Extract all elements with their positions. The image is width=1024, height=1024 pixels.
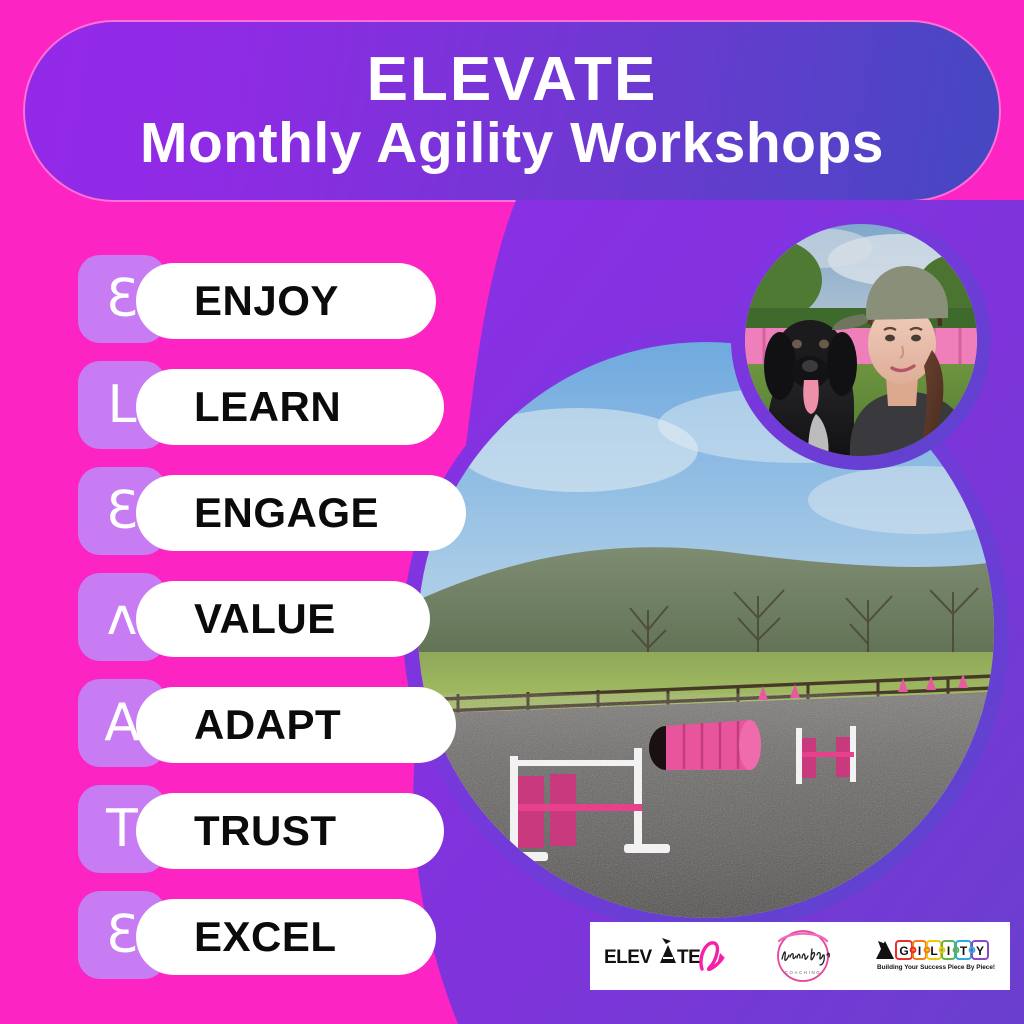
acronym-row-enjoy[interactable]: ƐENJOY	[78, 255, 408, 347]
elevate-logo[interactable]: ELEV TE	[602, 922, 734, 990]
letter-glyph: Ɛ	[106, 909, 138, 961]
agility-tagline: Building Your Success Piece By Piece!	[877, 964, 995, 971]
acronym-word: ENJOY	[194, 277, 339, 325]
svg-text:I: I	[947, 944, 950, 958]
svg-text:TE: TE	[677, 947, 700, 968]
word-pill[interactable]: VALUE	[136, 581, 430, 657]
acronym-list: ƐENJOYLLEARNƐENGAGEʌVALUEAADAPTTTRUSTƐEX…	[78, 255, 408, 997]
letter-glyph: ʌ	[107, 591, 138, 643]
logo-bar: ELEV TE COACHIN	[590, 922, 1010, 990]
page-title: ELEVATE	[367, 48, 658, 111]
acronym-row-engage[interactable]: ƐENGAGE	[78, 467, 408, 559]
artwork-panel	[398, 200, 1024, 1024]
letter-glyph: Ɛ	[106, 273, 138, 325]
page-subtitle: Monthly Agility Workshops	[140, 113, 884, 175]
letter-glyph: A	[104, 697, 140, 749]
letter-glyph: Ɛ	[106, 485, 138, 537]
svg-text:COACHING: COACHING	[785, 970, 821, 975]
word-pill[interactable]: ADAPT	[136, 687, 456, 763]
acronym-row-value[interactable]: ʌVALUE	[78, 573, 408, 665]
acronym-word: ENGAGE	[194, 489, 379, 537]
agility-logo[interactable]: G I L I T Y Building Your Success Pi	[872, 922, 998, 990]
svg-text:ELEV: ELEV	[604, 947, 652, 968]
acronym-row-excel[interactable]: ƐEXCEL	[78, 891, 408, 983]
acronym-word: TRUST	[194, 807, 337, 855]
svg-text:T: T	[960, 944, 968, 958]
acronym-word: LEARN	[194, 383, 341, 431]
svg-text:Y: Y	[976, 944, 984, 958]
word-pill[interactable]: LEARN	[136, 369, 444, 445]
acronym-word: VALUE	[194, 595, 336, 643]
header-banner: ELEVATE Monthly Agility Workshops	[25, 22, 999, 200]
word-pill[interactable]: EXCEL	[136, 899, 436, 975]
letter-glyph: T	[106, 803, 138, 855]
acronym-row-adapt[interactable]: AADAPT	[78, 679, 408, 771]
acronym-row-learn[interactable]: LLEARN	[78, 361, 408, 453]
word-pill[interactable]: ENGAGE	[136, 475, 466, 551]
acronym-row-trust[interactable]: TTRUST	[78, 785, 408, 877]
word-pill[interactable]: TRUST	[136, 793, 444, 869]
svg-text:G: G	[900, 944, 909, 958]
agility-tunnel	[649, 720, 761, 770]
svg-text:L: L	[931, 944, 938, 958]
katrina-bayliss-coaching-logo[interactable]: COACHING	[757, 922, 849, 990]
word-pill[interactable]: ENJOY	[136, 263, 436, 339]
acronym-word: ADAPT	[194, 701, 341, 749]
svg-text:I: I	[918, 944, 921, 958]
acronym-word: EXCEL	[194, 913, 337, 961]
letter-glyph: L	[108, 379, 137, 431]
